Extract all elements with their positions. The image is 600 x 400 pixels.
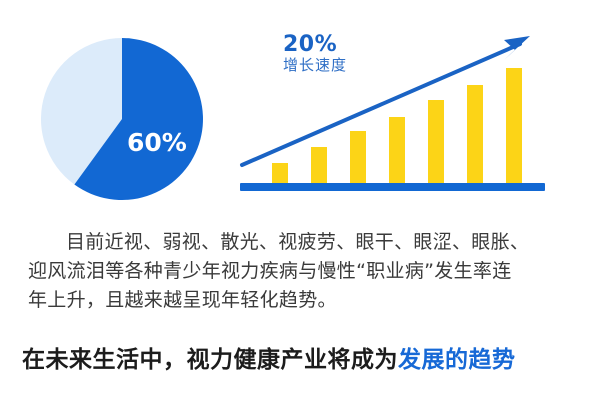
body-paragraph-line-1: 目前近视、弱视、散光、视疲劳、眼干、眼涩、眼胀、 (28, 228, 576, 257)
bar-7 (506, 68, 522, 183)
growth-caption: 增长速度 (283, 58, 347, 74)
bar-chart (232, 26, 552, 201)
pie-chart: 60% (41, 38, 203, 200)
chart-baseline (240, 183, 545, 191)
headline: 在未来生活中，视力健康产业将成为发展的趋势 (22, 340, 516, 374)
pie-chart-svg (41, 38, 203, 200)
headline-accent: 发展的趋势 (398, 347, 516, 373)
bar-5 (428, 100, 444, 183)
bar-4 (389, 117, 405, 183)
bar-chart-svg (232, 26, 552, 201)
body-paragraph-line-2: 迎风流泪等各种青少年视力疾病与慢性“职业病”发生率连 (28, 257, 576, 286)
headline-lead: 在未来生活中，视力健康产业将成为 (22, 347, 398, 373)
body-paragraph: 目前近视、弱视、散光、视疲劳、眼干、眼涩、眼胀、 迎风流泪等各种青少年视力疾病与… (28, 228, 576, 315)
growth-percent: 20% (283, 33, 347, 56)
pie-value-label: 60% (127, 128, 187, 157)
growth-callout: 20% 增长速度 (283, 33, 347, 74)
infographic-canvas: 60% 20% 增长速度 (0, 0, 600, 400)
body-paragraph-line-3: 年上升，且越来越呈现年轻化趋势。 (28, 286, 576, 315)
bar-6 (467, 85, 483, 183)
charts-band: 60% 20% 增长速度 (0, 0, 600, 215)
bar-3 (350, 131, 366, 183)
bar-2 (311, 147, 327, 183)
bar-1 (272, 163, 288, 183)
